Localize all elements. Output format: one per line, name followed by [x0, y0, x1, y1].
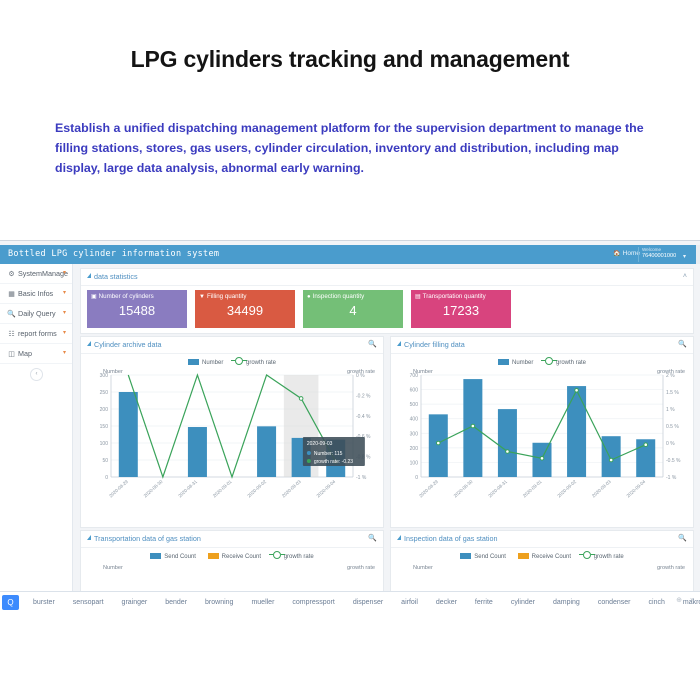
panel-title: data statistics [94, 272, 138, 281]
legend-swatch [208, 553, 219, 559]
panel-header: Transportation data of gas station 🔍 [81, 531, 383, 548]
panel-header: Cylinder filling data 🔍 [391, 337, 693, 354]
search-icon[interactable]: 🔍 [678, 531, 687, 547]
svg-text:0: 0 [105, 475, 108, 481]
kpi-value: 15488 [87, 303, 187, 318]
map-icon: ◫ [7, 345, 16, 364]
search-icon[interactable]: 🔍 [368, 531, 377, 547]
data-statistics-panel: data statistics ˄ ▣Number of cylinders 1… [80, 268, 694, 334]
taskbar-tab[interactable]: burster [24, 595, 64, 610]
search-icon: 🔍 [7, 305, 16, 324]
y2-axis-label: growth rate [347, 565, 375, 571]
svg-text:2020-08-31: 2020-08-31 [487, 479, 508, 499]
sidebar-item-label: Map [18, 349, 32, 358]
svg-text:500: 500 [410, 402, 419, 408]
legend-item-send-count: Send Count [150, 554, 196, 560]
panel-title: Inspection data of gas station [404, 534, 498, 543]
taskbar-tab[interactable]: sensopart [64, 595, 113, 610]
taskbar-tab[interactable]: airfoil [392, 595, 427, 610]
funnel-icon: ▼ [199, 294, 205, 300]
svg-text:2020-09-03: 2020-09-03 [307, 441, 333, 447]
legend-swatch [188, 359, 199, 365]
legend-item-send-count: Send Count [460, 554, 506, 560]
collapse-panel-button[interactable]: ˄ [683, 269, 687, 285]
taskbar-tab-list: burstersensopartgraingerbenderbrowningmu… [24, 595, 700, 610]
kpi-value: 17233 [411, 303, 511, 318]
svg-text:growth rate: -0.23: growth rate: -0.23 [314, 459, 353, 465]
legend-item-growth-rate: growth rate [545, 360, 586, 366]
svg-text:0.5 %: 0.5 % [666, 424, 679, 430]
legend-marker [235, 357, 243, 365]
svg-text:200: 200 [410, 446, 419, 452]
svg-text:300: 300 [410, 431, 419, 437]
user-menu[interactable]: Welcome 76400001000 ▾ [638, 247, 690, 262]
svg-text:300: 300 [100, 373, 109, 379]
chart-legend: Send Count Receive Count growth rate [81, 551, 383, 560]
svg-text:2020-08-29: 2020-08-29 [418, 479, 439, 499]
sidebar-item-systemmanage[interactable]: ⚙SystemManage▾ [0, 264, 72, 284]
svg-text:100: 100 [410, 460, 419, 466]
panel-title: Cylinder archive data [94, 340, 162, 349]
svg-text:2020-09-04: 2020-09-04 [316, 479, 337, 499]
y-axis-label: Number [103, 565, 123, 571]
cylinder-archive-data-panel: Cylinder archive data 🔍 Number growth ra… [80, 336, 384, 528]
taskbar-tab[interactable]: mueller [242, 595, 283, 610]
svg-text:150: 150 [100, 424, 109, 430]
kpi-card-filling[interactable]: ▼Filling quantity 34499 [195, 290, 295, 328]
svg-text:2020-09-01: 2020-09-01 [522, 479, 543, 499]
taskbar-tab[interactable]: compressport [283, 595, 343, 610]
panel-header: data statistics ˄ [81, 269, 693, 286]
svg-text:2020-09-02: 2020-09-02 [556, 479, 577, 499]
panel-header: Cylinder archive data 🔍 [81, 337, 383, 354]
kpi-title: ▣Number of cylinders [91, 293, 154, 300]
kpi-card-cylinders[interactable]: ▣Number of cylinders 15488 [87, 290, 187, 328]
legend-swatch [150, 553, 161, 559]
sidebar-item-map[interactable]: ◫Map▾ [0, 344, 72, 364]
taskbar-tab[interactable]: cylinder [502, 595, 544, 610]
kpi-title: ▤Transportation quantity [415, 293, 486, 300]
taskbar-tab[interactable]: cinch [640, 595, 674, 610]
legend-marker [583, 551, 591, 559]
svg-text:2020-09-01: 2020-09-01 [212, 479, 233, 499]
taskbar-tab[interactable]: bender [156, 595, 196, 610]
svg-text:200: 200 [100, 407, 109, 413]
window-edge [696, 245, 700, 264]
svg-text:2020-08-29: 2020-08-29 [108, 479, 129, 499]
chevron-down-icon: ▾ [63, 264, 66, 283]
kpi-value: 34499 [195, 303, 295, 318]
kpi-title: ▼Filling quantity [199, 293, 247, 300]
application-window: Bottled LPG cylinder information system … [0, 240, 700, 614]
taskbar-tab[interactable]: ferrite [466, 595, 502, 610]
gear-icon: ⚙ [7, 265, 16, 284]
sidebar-item-label: Basic Infos [18, 289, 53, 298]
start-button[interactable]: Q [2, 595, 19, 610]
svg-text:1.5 %: 1.5 % [666, 390, 679, 396]
app-header: Bottled LPG cylinder information system … [0, 245, 700, 264]
legend-item-number: Number [188, 360, 223, 366]
chart-icon [87, 341, 91, 346]
chevron-down-icon: ▾ [63, 304, 66, 323]
person-icon: ● [307, 294, 311, 300]
svg-text:100: 100 [100, 441, 109, 447]
legend-item-receive-count: Receive Count [518, 554, 571, 560]
svg-text:2020-08-30: 2020-08-30 [143, 479, 164, 499]
legend-marker [545, 357, 553, 365]
panel-title: Transportation data of gas station [94, 534, 201, 543]
panel-title: Cylinder filling data [404, 340, 465, 349]
cylinder-filling-data-panel: Cylinder filling data 🔍 Number growth ra… [390, 336, 694, 528]
svg-text:2020-09-03: 2020-09-03 [281, 479, 302, 499]
search-icon[interactable]: 🔍 [368, 337, 377, 353]
system-name: Bottled LPG cylinder information system [8, 249, 219, 259]
svg-text:400: 400 [410, 417, 419, 423]
taskbar-tab[interactable]: damping [544, 595, 589, 610]
chevron-down-icon: ▾ [683, 253, 686, 260]
svg-text:1 %: 1 % [666, 407, 675, 413]
page-description: Establish a unified dispatching manageme… [55, 118, 655, 178]
svg-text:2020-08-30: 2020-08-30 [453, 479, 474, 499]
sidebar-item-daily-query[interactable]: 🔍Daily Query▾ [0, 304, 72, 324]
chart-icon [397, 341, 401, 346]
legend-marker [273, 551, 281, 559]
panel-header: Inspection data of gas station 🔍 [391, 531, 693, 548]
svg-text:2020-09-03: 2020-09-03 [591, 479, 612, 499]
svg-text:-1 %: -1 % [666, 475, 677, 481]
chevron-down-icon: ▾ [63, 324, 66, 343]
sidebar-item-basic-infos[interactable]: ▦Basic Infos▾ [0, 284, 72, 304]
svg-text:-0.5 %: -0.5 % [666, 458, 681, 464]
chart-legend: Number growth rate [391, 357, 693, 366]
chart-icon [87, 535, 91, 540]
chevron-down-icon: ▾ [63, 344, 66, 363]
svg-text:-0.4 %: -0.4 % [356, 414, 371, 420]
legend-swatch [518, 553, 529, 559]
svg-text:2 %: 2 % [666, 373, 675, 379]
sidebar-collapse-button[interactable]: ‹ [30, 368, 43, 381]
kpi-card-inspection[interactable]: ●Inspection quantity 4 [303, 290, 403, 328]
sidebar-item-label: SystemManage [18, 269, 68, 278]
kpi-card-list: ▣Number of cylinders 15488 ▼Filling quan… [87, 290, 511, 328]
home-icon: 🏠 [613, 251, 620, 257]
legend-swatch [460, 553, 471, 559]
taskbar-tab[interactable]: grainger [113, 595, 157, 610]
svg-text:Number: 115: Number: 115 [314, 451, 343, 457]
search-icon[interactable]: 🔍 [678, 337, 687, 353]
y-axis-label: Number [413, 565, 433, 571]
chart-icon [397, 535, 401, 540]
legend-swatch [498, 359, 509, 365]
sidebar-item-label: Daily Query [18, 309, 56, 318]
svg-text:-0.2 %: -0.2 % [356, 393, 371, 399]
legend-item-growth-rate: growth rate [583, 554, 624, 560]
page-title: LPG cylinders tracking and management [0, 46, 700, 73]
legend-item-growth-rate: growth rate [273, 554, 314, 560]
svg-text:50: 50 [102, 458, 108, 464]
sidebar: ⚙SystemManage▾ ▦Basic Infos▾ 🔍Daily Quer… [0, 264, 73, 614]
svg-text:2020-08-31: 2020-08-31 [177, 479, 198, 499]
cylinder-icon: ▣ [91, 294, 97, 300]
svg-text:250: 250 [100, 390, 109, 396]
taskbar-tab[interactable]: dispenser [344, 595, 392, 610]
main-content: data statistics ˄ ▣Number of cylinders 1… [72, 264, 700, 614]
kpi-value: 4 [303, 303, 403, 318]
svg-text:2020-09-02: 2020-09-02 [246, 479, 267, 499]
legend-item-receive-count: Receive Count [208, 554, 261, 560]
truck-icon: ▤ [415, 294, 421, 300]
svg-text:2020-09-04: 2020-09-04 [626, 479, 647, 499]
taskbar-tab[interactable]: browning [196, 595, 242, 610]
close-icon[interactable]: × [690, 597, 694, 604]
home-button[interactable]: 🏠Home [613, 250, 640, 257]
sidebar-item-report-forms[interactable]: ☷report forms▾ [0, 324, 72, 344]
svg-text:0: 0 [415, 475, 418, 481]
chart-plot-area[interactable]: 0100200300400500600700-1 %-0.5 %0 %0.5 %… [391, 367, 693, 527]
svg-text:0 %: 0 % [356, 373, 365, 379]
chart-icon [87, 273, 91, 278]
taskbar-tab[interactable]: decker [427, 595, 466, 610]
taskbar-tab[interactable]: condenser [589, 595, 640, 610]
taskbar-actions: ⊕ × [670, 596, 694, 604]
svg-text:0 %: 0 % [666, 441, 675, 447]
add-icon[interactable]: ⊕ [676, 597, 682, 604]
chart-plot-area[interactable]: 050100150200250300-1 %-0.8 %-0.6 %-0.4 %… [81, 367, 383, 527]
svg-text:600: 600 [410, 388, 419, 394]
legend-item-growth-rate: growth rate [235, 360, 276, 366]
chart-legend: Number growth rate [81, 357, 383, 366]
sidebar-item-label: report forms [18, 329, 57, 338]
kpi-title: ●Inspection quantity [307, 293, 364, 300]
kpi-card-transportation[interactable]: ▤Transportation quantity 17233 [411, 290, 511, 328]
legend-item-number: Number [498, 360, 533, 366]
taskbar: Q burstersensopartgraingerbenderbrowning… [0, 591, 700, 614]
chevron-down-icon: ▾ [63, 284, 66, 303]
table-icon: ☷ [7, 325, 16, 344]
y2-axis-label: growth rate [657, 565, 685, 571]
chart-legend: Send Count Receive Count growth rate [391, 551, 693, 560]
svg-text:-1 %: -1 % [356, 475, 367, 481]
database-icon: ▦ [7, 285, 16, 304]
svg-text:700: 700 [410, 373, 419, 379]
